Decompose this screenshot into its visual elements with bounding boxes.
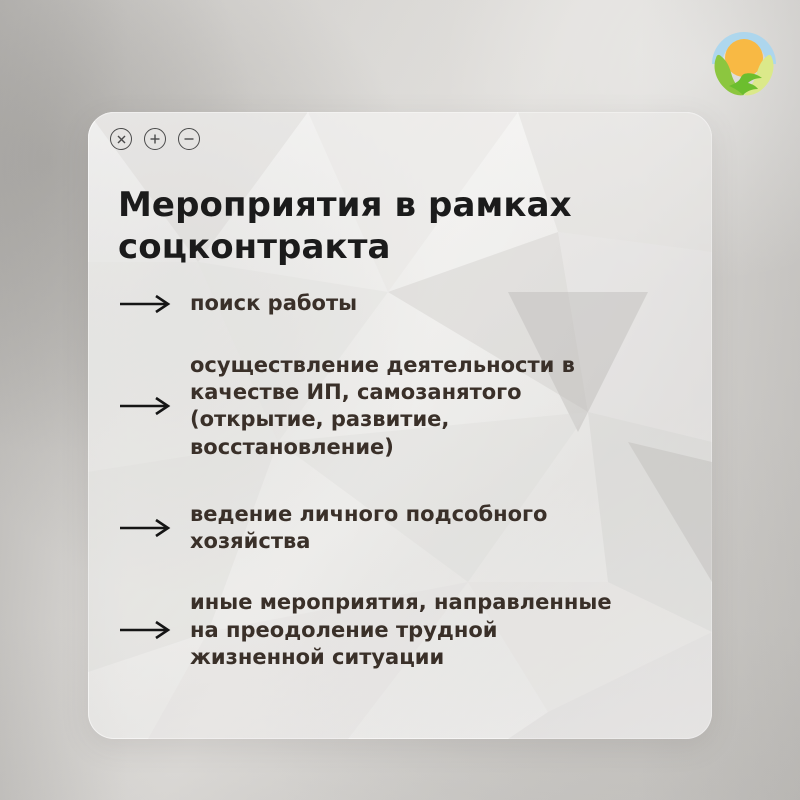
- list-item-inye-meropriyatiya: иные мероприятия, направленные на преодо…: [118, 589, 686, 671]
- list-item-poisk-raboty: поиск работы: [118, 290, 686, 317]
- social-support-logo: [694, 12, 794, 112]
- list-item-lichnoe-podsobnoe-hozyaystvo: ведение личного подсобного хозяйства: [118, 501, 686, 556]
- list-item-label: ведение личного подсобного хозяйства: [190, 501, 547, 556]
- poster-canvas: Мероприятия в рамках соцконтракта поиск …: [0, 0, 800, 800]
- arrow-right-icon: [118, 515, 176, 541]
- arrow-right-icon: [118, 617, 176, 643]
- arrow-right-icon: [118, 393, 176, 419]
- arrow-right-icon: [118, 291, 176, 317]
- list-item-deyatelnost-ip: осуществление деятельности в качестве ИП…: [118, 352, 686, 461]
- list-item-label: иные мероприятия, направленные на преодо…: [190, 589, 612, 671]
- card-content: Мероприятия в рамках соцконтракта поиск …: [88, 112, 712, 739]
- list-item-label: поиск работы: [190, 290, 357, 317]
- info-card: Мероприятия в рамках соцконтракта поиск …: [88, 112, 712, 739]
- measures-list: поиск работы осуществление деятельности …: [118, 290, 686, 671]
- list-item-label: осуществление деятельности в качестве ИП…: [190, 352, 575, 461]
- page-title: Мероприятия в рамках соцконтракта: [118, 184, 678, 268]
